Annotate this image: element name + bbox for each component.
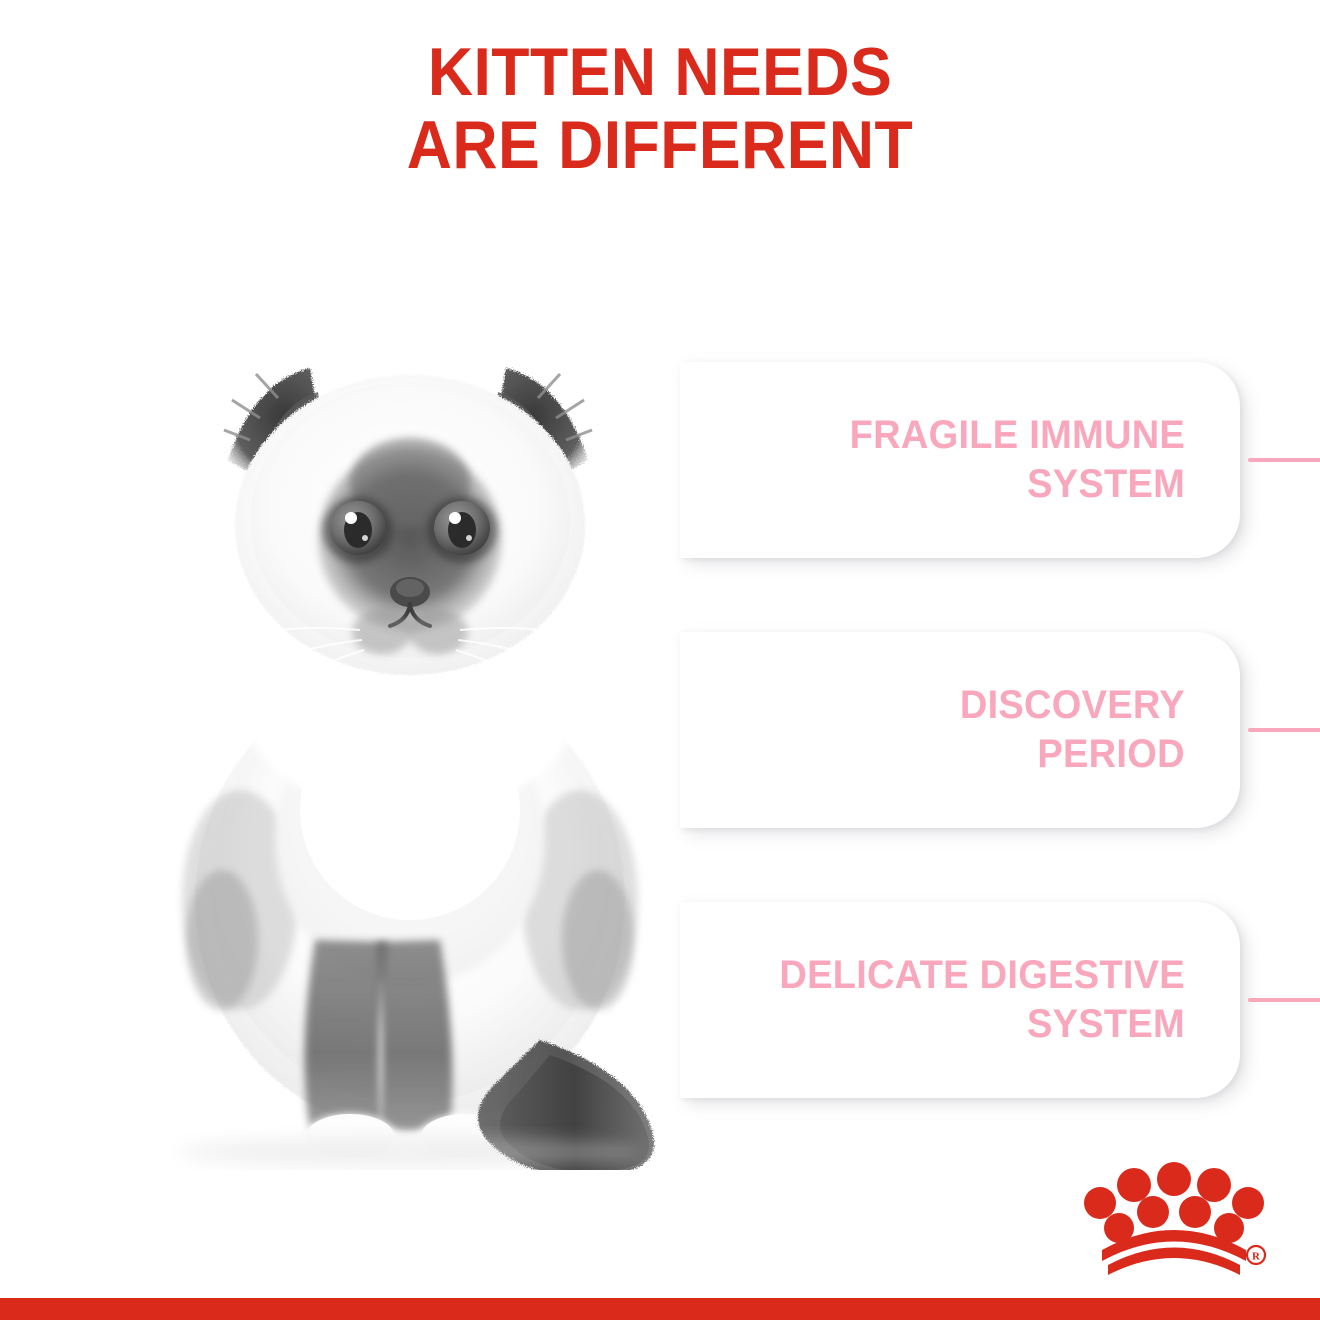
callout-label: DELICATE DIGESTIVE SYSTEM (779, 951, 1185, 1049)
callout-card-fragile-immune-system[interactable]: FRAGILE IMMUNE SYSTEM (680, 362, 1240, 558)
bottom-brand-bar (0, 1298, 1320, 1320)
callout-label: DISCOVERY PERIOD (960, 681, 1185, 779)
callout-label: FRAGILE IMMUNE SYSTEM (850, 411, 1185, 509)
kitten-photo (110, 340, 710, 1170)
royal-canin-crown-logo: R (1078, 1160, 1270, 1278)
svg-text:R: R (1252, 1251, 1261, 1263)
callout-connector-line (1248, 458, 1320, 462)
callout-connector-line (1248, 728, 1320, 732)
callout-card-discovery-period[interactable]: DISCOVERY PERIOD (680, 632, 1240, 828)
callout-card-delicate-digestive-system[interactable]: DELICATE DIGESTIVE SYSTEM (680, 902, 1240, 1098)
registered-mark-icon: R (1247, 1246, 1265, 1264)
poster-canvas: KITTEN NEEDS ARE DIFFERENT (0, 0, 1320, 1320)
callout-connector-line (1248, 998, 1320, 1002)
page-title: KITTEN NEEDS ARE DIFFERENT (53, 36, 1267, 182)
